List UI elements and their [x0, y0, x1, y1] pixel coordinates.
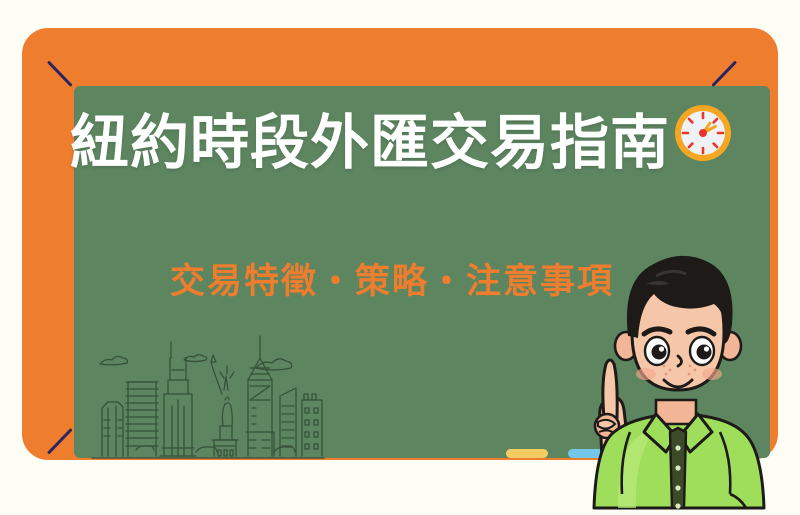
clock-icon [672, 102, 734, 164]
page-subtitle: 交易特徵・策略・注意事項 [170, 264, 614, 299]
chalk-yellow [506, 449, 548, 458]
new-york-skyline-icon [88, 328, 328, 468]
page-title: 紐約時段外匯交易指南 [70, 114, 670, 173]
pointing-boy-illustration [560, 250, 800, 510]
frame-corner-bottom-left [48, 452, 88, 492]
poster-canvas: 紐約時段外匯交易指南 交易特徵・策略・注意事項 [0, 0, 800, 500]
